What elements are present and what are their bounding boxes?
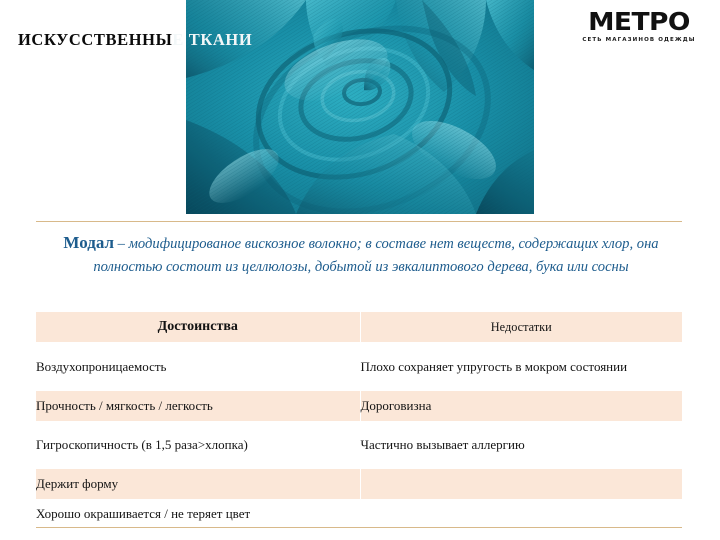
disadvantage-cell: Частично вызывает аллергию: [360, 421, 682, 469]
page-title-tail: Е ТКАНИ: [172, 30, 252, 49]
table-row: Хорошо окрашивается / не теряет цвет: [36, 499, 682, 529]
properties-table: Достоинства Недостатки Воздухопроницаемо…: [36, 312, 682, 529]
table-row: Прочность / мягкость / легкость Дорогови…: [36, 391, 682, 421]
metro-logo: МЕТРО СЕТЬ МАГАЗИНОВ ОДЕЖДЫ: [566, 8, 712, 58]
fiber-description: Модал – модифицированое вискозное волокн…: [40, 232, 682, 278]
logo-wordmark: МЕТРО: [562, 8, 717, 35]
advantage-cell: Хорошо окрашивается / не теряет цвет: [36, 499, 360, 529]
advantage-cell: Воздухопроницаемость: [36, 342, 360, 391]
page-title: ИСКУССТВЕННЫЕ ТКАНИ: [18, 30, 252, 50]
divider-top: [36, 221, 682, 222]
advantage-cell: Гигроскопичность (в 1,5 раза>хлопка): [36, 421, 360, 469]
disadvantage-cell: Плохо сохраняет упругость в мокром состо…: [360, 342, 682, 391]
page-title-main: ИСКУССТВЕННЫ: [18, 30, 172, 49]
divider-bottom: [36, 527, 682, 528]
column-header-disadvantages: Недостатки: [360, 312, 682, 342]
disadvantage-cell: [360, 499, 682, 529]
disadvantage-cell: [360, 469, 682, 499]
advantage-cell: Держит форму: [36, 469, 360, 499]
fiber-description-text: – модифицированое вискозное волокно; в с…: [93, 236, 658, 275]
table-row: Воздухопроницаемость Плохо сохраняет упр…: [36, 342, 682, 391]
disadvantage-cell: Дороговизна: [360, 391, 682, 421]
column-header-advantages: Достоинства: [36, 312, 360, 342]
table-row: Держит форму: [36, 469, 682, 499]
fiber-term: Модал: [63, 233, 114, 252]
advantage-cell: Прочность / мягкость / легкость: [36, 391, 360, 421]
logo-tagline: СЕТЬ МАГАЗИНОВ ОДЕЖДЫ: [565, 37, 714, 43]
table-row: Гигроскопичность (в 1,5 раза>хлопка) Час…: [36, 421, 682, 469]
table-header-row: Достоинства Недостатки: [36, 312, 682, 342]
presentation-slide: ИСКУССТВЕННЫЕ ТКАНИ МЕТРО СЕТЬ МАГАЗИНОВ…: [0, 0, 720, 540]
